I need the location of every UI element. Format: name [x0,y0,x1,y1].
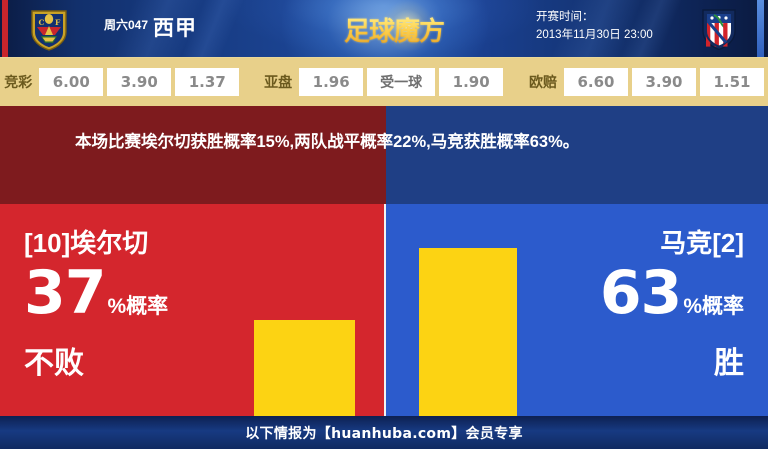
header-bar: C F 周六047西甲 [0,0,768,58]
footer-bar: 以下情报为【huanhuba.com】会员专享 [0,416,768,449]
away-outcome-label: 胜 [600,344,744,384]
odds-cell-draw[interactable]: 3.90 [632,68,696,96]
odds-cell-home[interactable]: 6.00 [39,68,103,96]
away-team-block: 马竞[2] 63%概率 胜 [600,226,744,384]
site-logo-text: 足球魔方 [344,11,444,48]
match-probability-infographic: C F 周六047西甲 [0,0,768,449]
svg-text:C: C [39,18,45,27]
odds-row: 竞彩 6.00 3.90 1.37 亚盘 1.96 受一球 1.90 欧赔 6.… [0,58,768,106]
away-team-name: 马竞[2] [600,226,744,260]
odds-cell-handicap[interactable]: 受一球 [367,68,435,96]
footer-notice: 以下情报为【huanhuba.com】会员专享 [245,423,523,443]
home-team-crest-icon: C F [26,6,72,52]
probability-chart: [10]埃尔切 37%概率 不败 马竞[2] 63%概率 胜 [0,204,768,416]
league-name-label: 西甲 [153,17,197,40]
probability-summary-text: 本场比赛埃尔切获胜概率15%,两队战平概率22%,马竞获胜概率63%。 [75,127,715,158]
match-round-label: 周六047 [104,18,148,32]
home-team-name: [10]埃尔切 [24,226,168,260]
footer-text-after: 】会员专享 [451,425,523,441]
odds-group-label: 亚盘 [264,72,292,92]
away-team-crest-icon [696,6,742,52]
odds-group-label: 欧赔 [529,72,557,92]
away-probability-value: 63 [600,258,682,328]
odds-cell-home[interactable]: 1.96 [299,68,363,96]
home-probability-bar [254,320,355,416]
odds-cell-away[interactable]: 1.37 [175,68,239,96]
odds-cell-away[interactable]: 1.51 [700,68,764,96]
away-probability-line: 63%概率 [600,260,744,342]
home-outcome-label: 不败 [24,344,168,384]
kickoff-value: 2013年11月30日 23:00 [536,26,653,44]
svg-text:F: F [55,18,61,27]
home-probability-unit: %概率 [108,295,169,318]
odds-group-jingcai: 竞彩 6.00 3.90 1.37 [4,68,243,96]
panel-divider [384,204,386,416]
footer-text-before: 以下情报为【 [245,425,331,441]
site-logo[interactable]: 足球魔方 [332,8,456,50]
footer-site-name[interactable]: huanhuba.com [331,426,451,442]
away-probability-unit: %概率 [683,295,744,318]
home-probability-line: 37%概率 [24,260,168,342]
home-team-block: [10]埃尔切 37%概率 不败 [24,226,168,384]
header-left-red-stripe [2,0,8,58]
odds-cell-draw[interactable]: 3.90 [107,68,171,96]
odds-bar: 竞彩 6.00 3.90 1.37 亚盘 1.96 受一球 1.90 欧赔 6.… [0,58,768,106]
odds-cell-home[interactable]: 6.60 [564,68,628,96]
home-probability-value: 37 [24,258,106,328]
footer-inner: 以下情报为【huanhuba.com】会员专享 [0,416,768,449]
odds-group-european: 欧赔 6.60 3.90 1.51 [529,68,768,96]
probability-summary-banner: 本场比赛埃尔切获胜概率15%,两队战平概率22%,马竞获胜概率63%。 [0,106,768,204]
odds-group-asian-handicap: 亚盘 1.96 受一球 1.90 [264,68,507,96]
away-probability-bar [419,248,517,416]
odds-group-label: 竞彩 [4,72,32,92]
odds-cell-away[interactable]: 1.90 [439,68,503,96]
kickoff-label: 开赛时间： [536,8,653,26]
header-right-blue-stripe [757,0,764,58]
league-info: 周六047西甲 [104,12,197,42]
kickoff-info: 开赛时间： 2013年11月30日 23:00 [536,8,653,44]
